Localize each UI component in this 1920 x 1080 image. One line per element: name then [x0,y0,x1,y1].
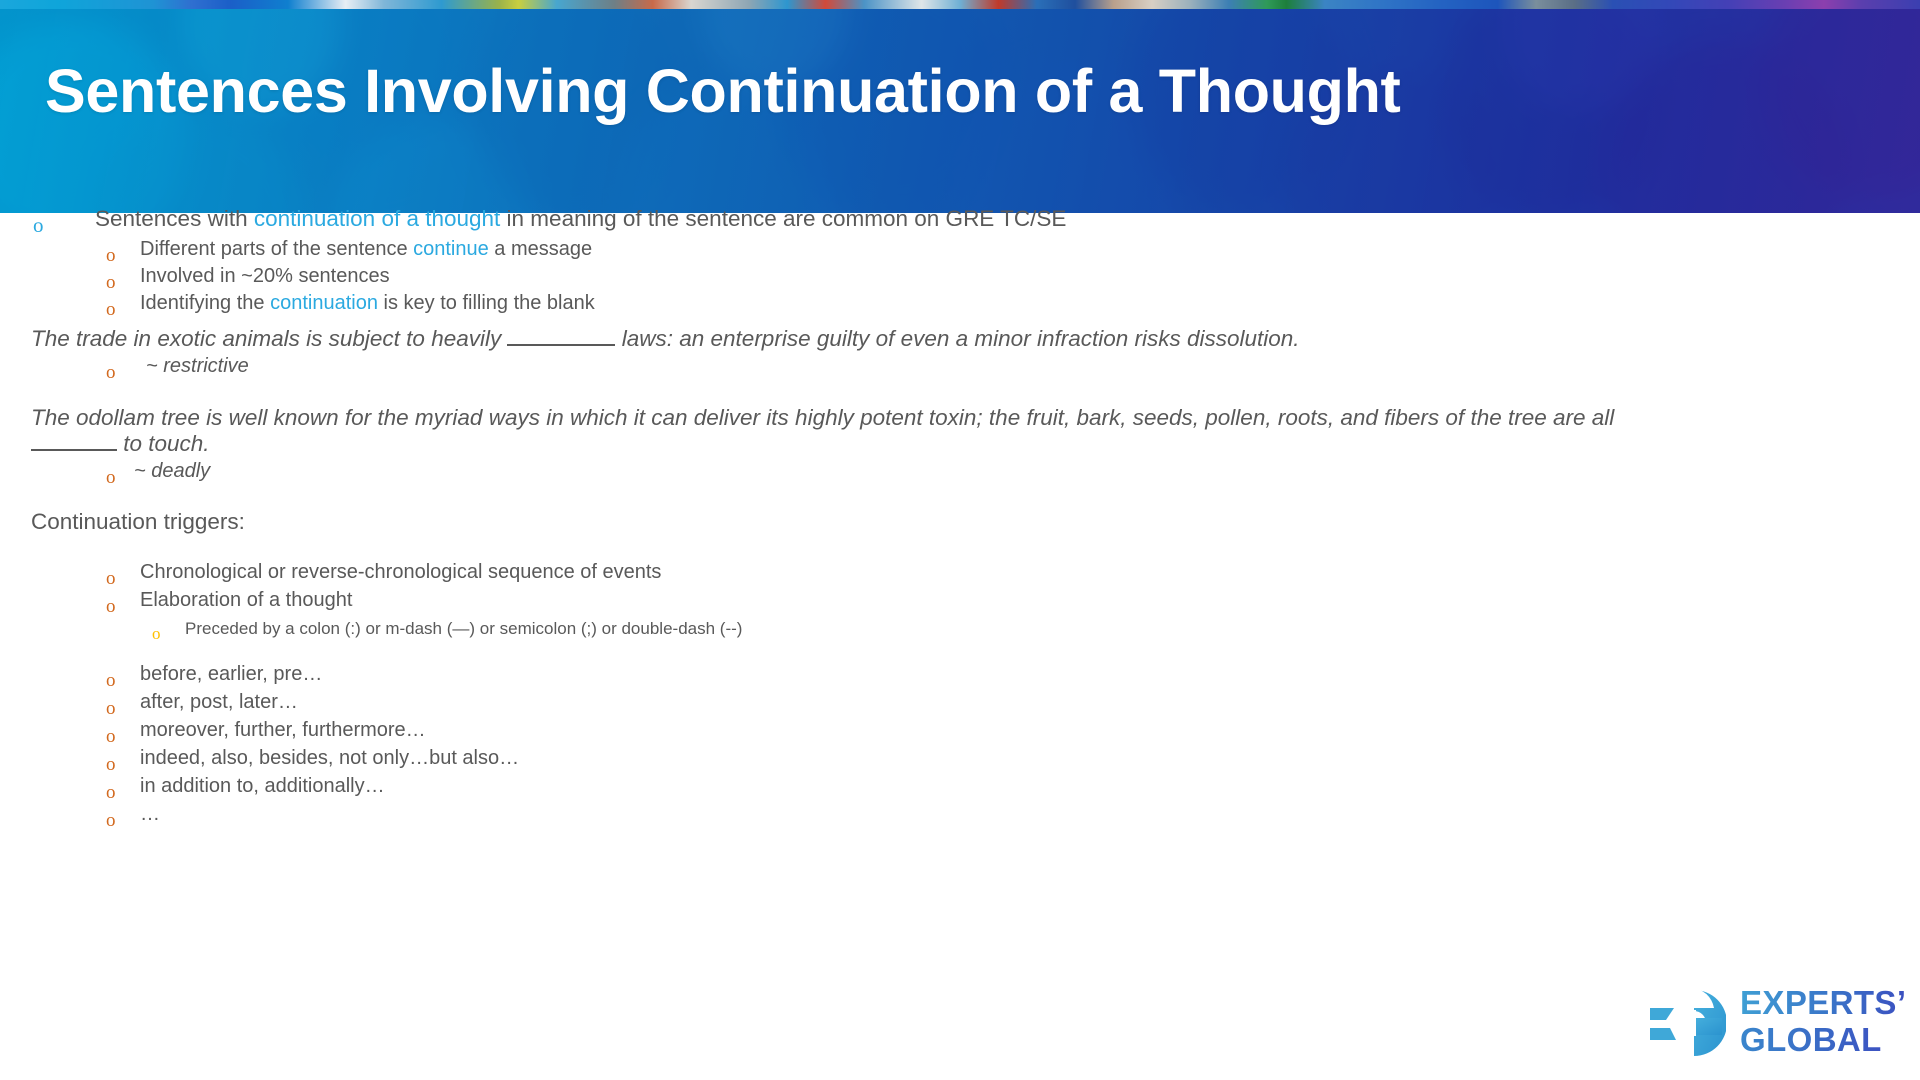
trigger-word-0: before, earlier, pre… [140,663,322,686]
g-mark-icon [1648,986,1726,1060]
circle-o-bullet-icon: o [106,727,116,746]
trigger-word-row-5: o … [106,803,160,826]
example-1-part2: laws: an enterprise guilty of even a min… [615,326,1299,351]
experts-global-logo: EXPERTS’ GLOBAL [1648,982,1900,1066]
circle-o-bullet-icon: o [106,783,116,802]
trigger-item-row-1: o Elaboration of a thought [106,589,352,612]
bullet-main-pre: Sentences with [95,206,254,231]
bullet-sub3-pre: Identifying the [140,292,270,314]
trigger-word-1: after, post, later… [140,691,298,714]
bullet-main-post: in meaning of the sentence are common on… [500,206,1066,231]
logo-wordmark: EXPERTS’ GLOBAL [1740,984,1906,1058]
slide-title: Sentences Involving Continuation of a Th… [45,56,1401,126]
circle-o-bullet-icon: o [106,273,116,292]
example-1-part1: The trade in exotic animals is subject t… [31,326,507,351]
circle-o-bullet-icon: o [106,363,116,382]
trigger-item-row-0: o Chronological or reverse-chronological… [106,561,661,584]
bullet-sub1-highlight: continue [413,238,489,260]
bullet-sub3-text: Identifying the continuation is key to f… [140,292,595,315]
trigger-word-row-4: o in addition to, additionally… [106,775,385,798]
bullet-sub2-text: Involved in ~20% sentences [140,265,390,288]
circle-o-bullet-icon: o [106,300,116,319]
example-2-answer-row: o ~ deadly [106,460,210,483]
example-1-sentence: The trade in exotic animals is subject t… [31,326,1300,352]
circle-o-bullet-icon: o [106,597,116,616]
circle-o-bullet-icon: o [106,468,116,487]
bullet-main-text: Sentences with continuation of a thought… [95,206,1066,232]
example-1-answer: ~ restrictive [146,355,249,378]
trigger-subitem: Preceded by a colon (:) or m-dash (—) or… [185,619,742,639]
bullet-row-sub1: o Different parts of the sentence contin… [106,238,592,261]
logo-line-2: GLOBAL [1740,1021,1906,1058]
trigger-word-5: … [140,803,160,826]
bullet-sub1-text: Different parts of the sentence continue… [140,238,592,261]
trigger-subitem-row: o Preceded by a colon (:) or m-dash (—) … [152,619,742,639]
banner-top-color-strip [0,0,1920,9]
example-2-answer: ~ deadly [134,460,210,483]
example-1-answer-row: o ~ restrictive [106,355,249,378]
bullet-row-sub2: o Involved in ~20% sentences [106,265,390,288]
slide-header-banner: Sentences Involving Continuation of a Th… [0,0,1920,213]
bullet-main-highlight: continuation of a thought [254,206,500,231]
bullet-row-main: o Sentences with continuation of a thoug… [33,206,1066,232]
circle-o-bullet-icon: o [106,699,116,718]
trigger-word-4: in addition to, additionally… [140,775,385,798]
trigger-word-row-1: o after, post, later… [106,691,298,714]
circle-o-bullet-icon: o [33,215,44,236]
trigger-item-0: Chronological or reverse-chronological s… [140,561,661,584]
trigger-word-3: indeed, also, besides, not only…but also… [140,747,519,770]
trigger-word-row-0: o before, earlier, pre… [106,663,322,686]
circle-o-bullet-icon: o [106,755,116,774]
circle-o-bullet-icon: o [106,569,116,588]
example-1-blank [507,327,615,346]
example-2-blank [31,432,117,451]
example-2-part2: to touch. [117,431,210,456]
bullet-sub3-highlight: continuation [270,292,378,314]
trigger-item-1: Elaboration of a thought [140,589,352,612]
trigger-word-row-2: o moreover, further, furthermore… [106,719,426,742]
circle-o-bullet-icon: o [106,246,116,265]
circle-o-bullet-icon: o [106,671,116,690]
bullet-sub1-post: a message [489,238,592,260]
example-2-sentence-line2: to touch. [31,431,210,457]
triggers-heading: Continuation triggers: [31,509,245,535]
circle-o-bullet-icon: o [106,811,116,830]
example-2-sentence-line1: The odollam tree is well known for the m… [31,405,1614,431]
bullet-sub1-pre: Different parts of the sentence [140,238,413,260]
trigger-word-2: moreover, further, furthermore… [140,719,426,742]
bullet-row-sub3: o Identifying the continuation is key to… [106,292,595,315]
circle-o-bullet-icon: o [152,625,161,642]
trigger-word-row-3: o indeed, also, besides, not only…but al… [106,747,519,770]
bullet-sub3-post: is key to filling the blank [378,292,595,314]
logo-line-1: EXPERTS’ [1740,984,1906,1021]
